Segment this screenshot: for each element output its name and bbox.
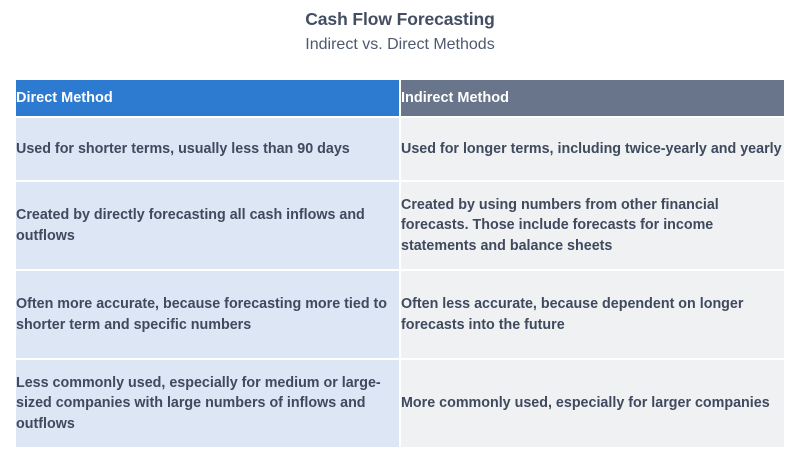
cell-direct-4: Less commonly used, especially for mediu… [16, 360, 399, 447]
table-row: Created by directly forecasting all cash… [16, 182, 784, 269]
cell-indirect-3: Often less accurate, because dependent o… [401, 271, 784, 358]
table-header-row: Direct Method Indirect Method [16, 80, 784, 116]
column-header-direct-method: Direct Method [16, 80, 399, 116]
cell-indirect-4: More commonly used, especially for large… [401, 360, 784, 447]
column-header-indirect-method: Indirect Method [401, 80, 784, 116]
table-row: Used for shorter terms, usually less tha… [16, 118, 784, 180]
comparison-table: Direct Method Indirect Method Used for s… [14, 78, 786, 449]
cell-direct-1: Used for shorter terms, usually less tha… [16, 118, 399, 180]
comparison-table-page: Cash Flow Forecasting Indirect vs. Direc… [0, 0, 800, 456]
cell-indirect-2: Created by using numbers from other fina… [401, 182, 784, 269]
cell-direct-2: Created by directly forecasting all cash… [16, 182, 399, 269]
table-row: Less commonly used, especially for mediu… [16, 360, 784, 447]
cell-direct-3: Often more accurate, because forecasting… [16, 271, 399, 358]
title-block: Cash Flow Forecasting Indirect vs. Direc… [0, 0, 800, 56]
table-row: Often more accurate, because forecasting… [16, 271, 784, 358]
cell-indirect-1: Used for longer terms, including twice-y… [401, 118, 784, 180]
comparison-table-wrapper: Direct Method Indirect Method Used for s… [14, 78, 786, 449]
page-title: Cash Flow Forecasting [0, 9, 800, 31]
page-subtitle: Indirect vs. Direct Methods [0, 35, 800, 56]
